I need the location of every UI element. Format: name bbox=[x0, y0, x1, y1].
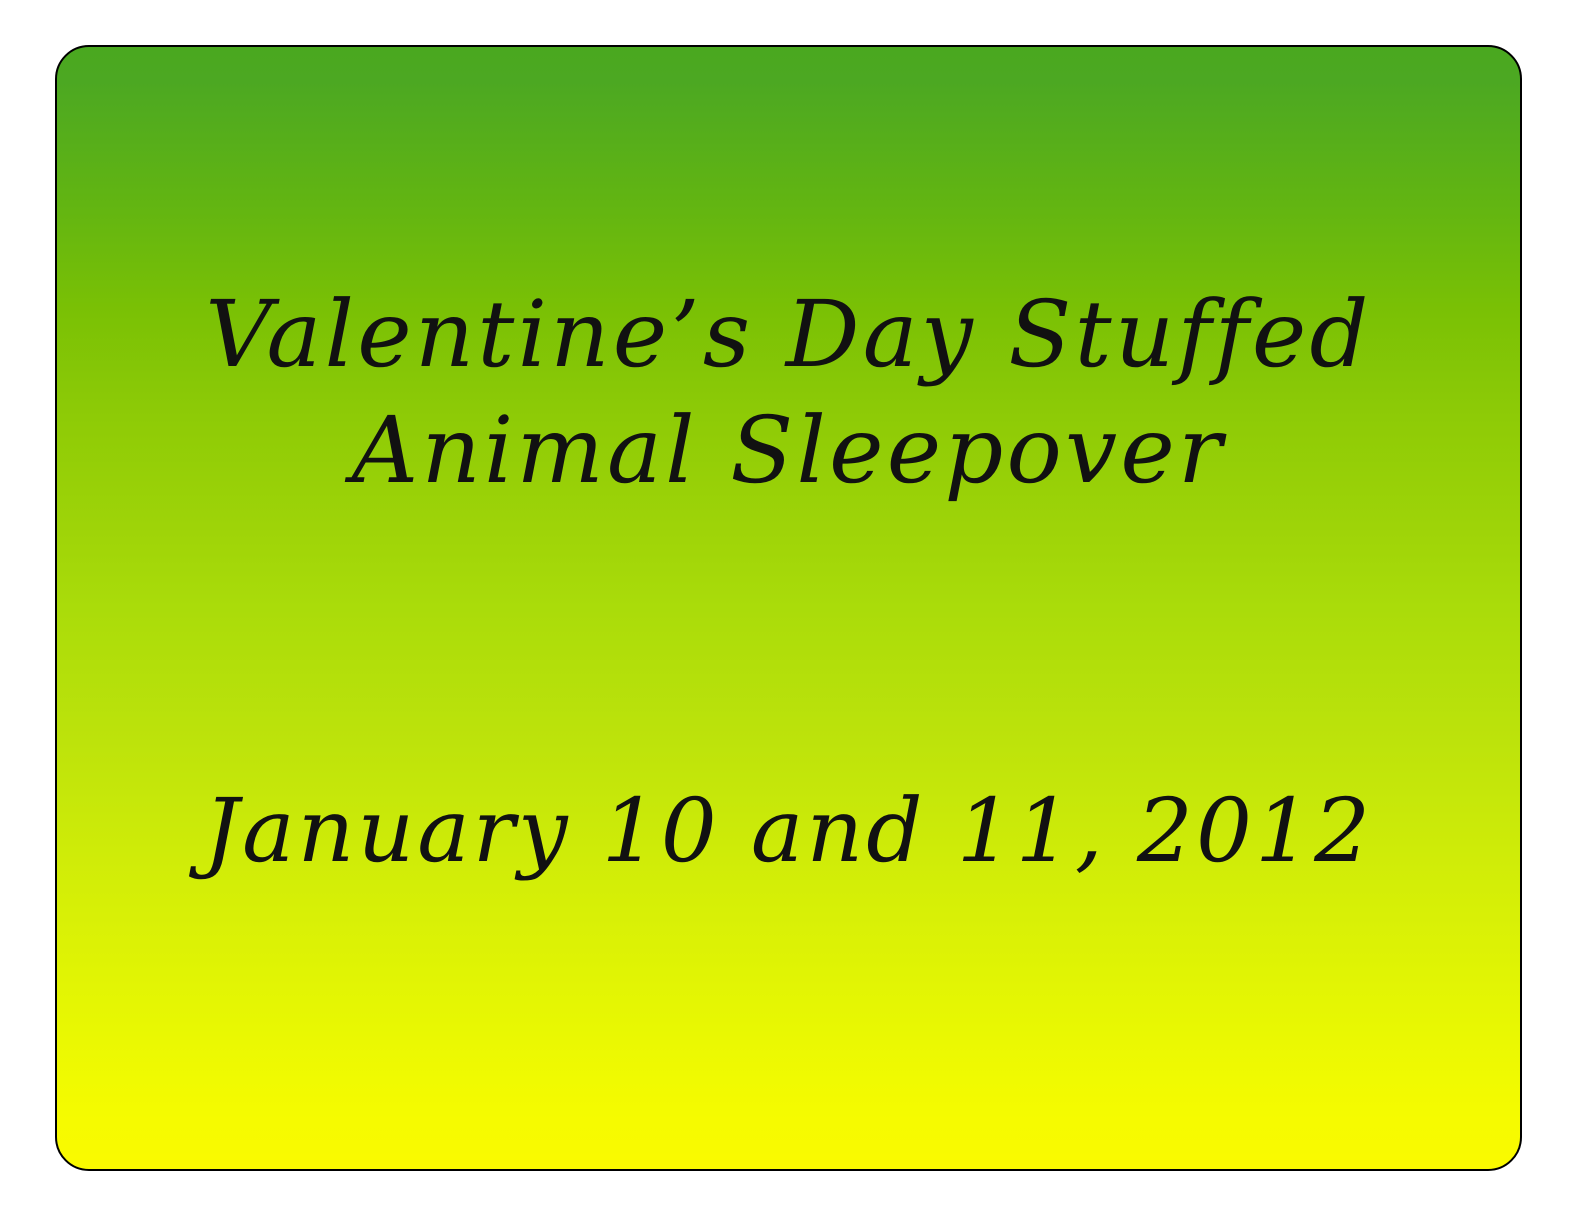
slide-root: Valentine’s Day Stuffed Animal Sleepover… bbox=[0, 0, 1584, 1224]
slide-card: Valentine’s Day Stuffed Animal Sleepover… bbox=[55, 45, 1522, 1171]
slide-title-line-1: Valentine’s Day Stuffed bbox=[57, 289, 1520, 381]
slide-date-line: January 10 and 11, 2012 bbox=[57, 787, 1520, 875]
slide-text-stack: Valentine’s Day Stuffed Animal Sleepover… bbox=[57, 47, 1520, 1169]
slide-title-line-2: Animal Sleepover bbox=[57, 405, 1520, 497]
